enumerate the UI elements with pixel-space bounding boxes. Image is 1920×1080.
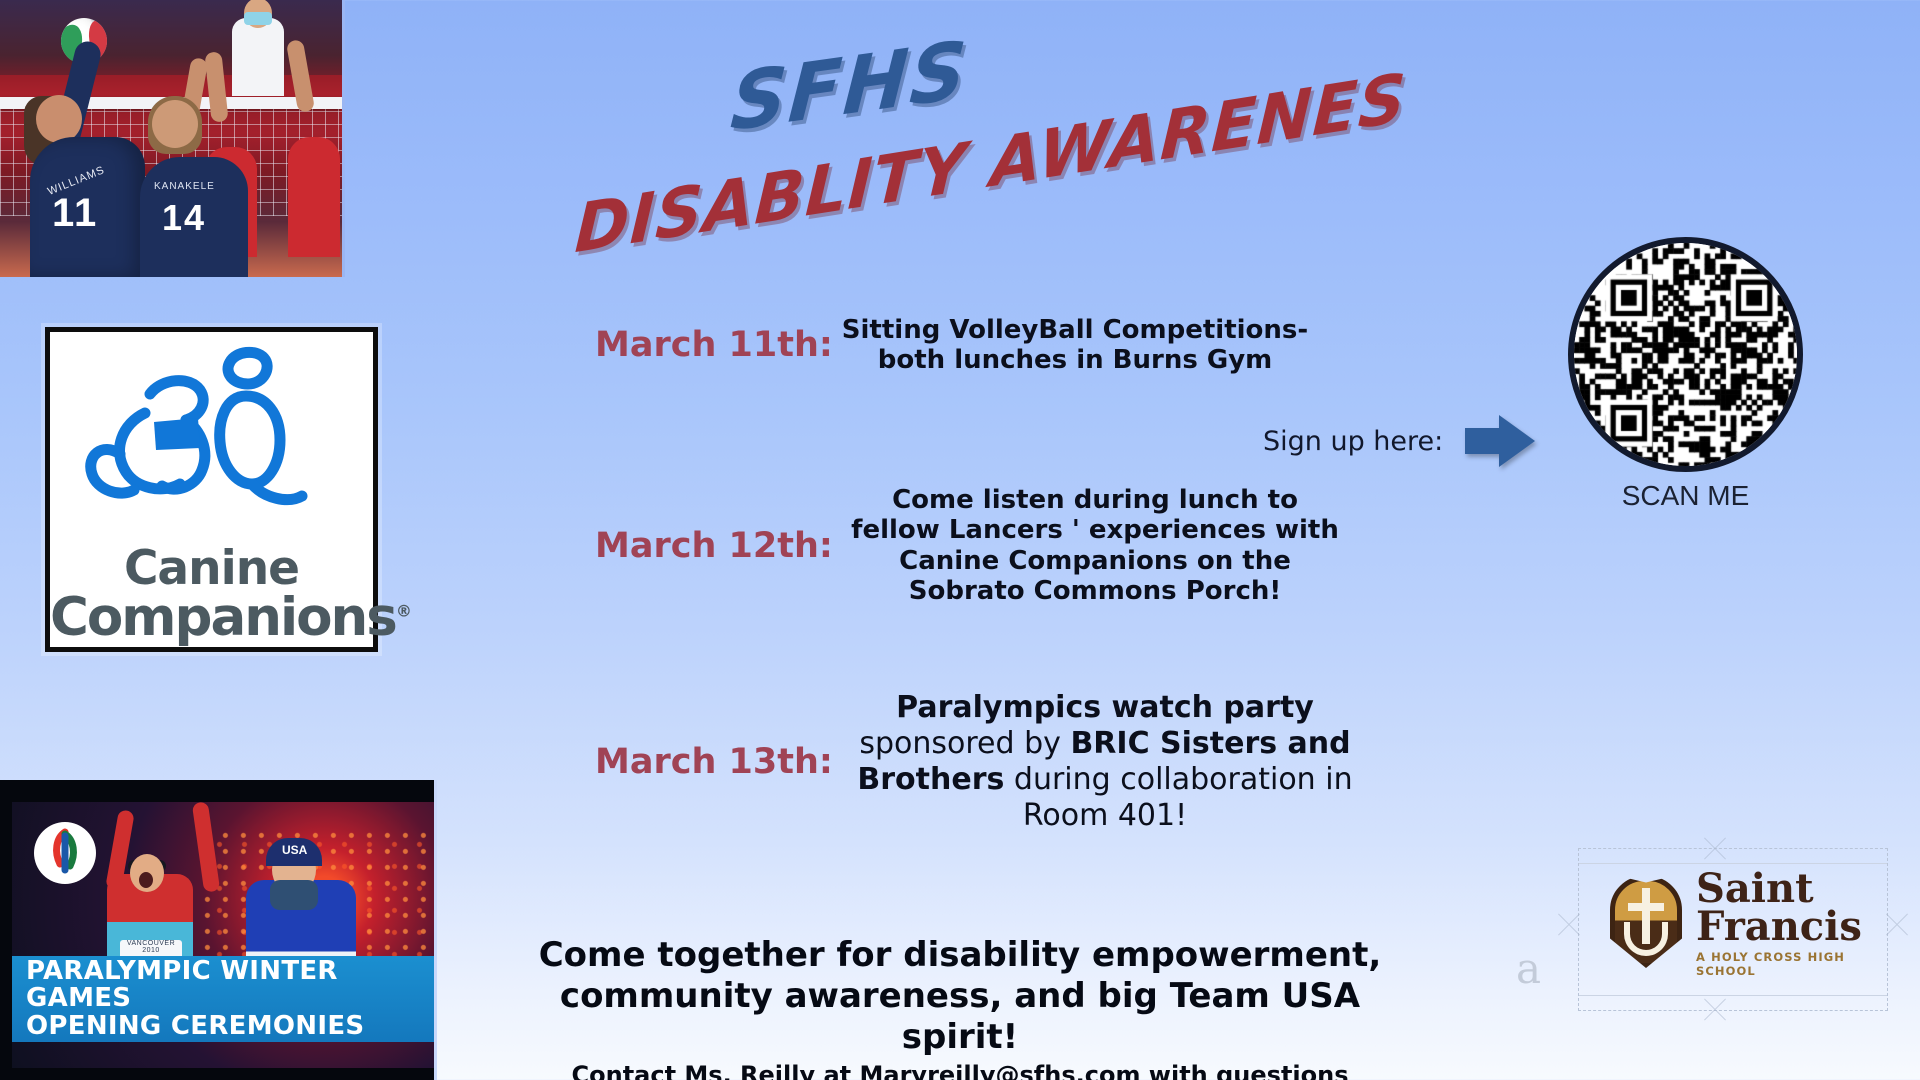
event-date-label: March 12th: [595,526,845,566]
qr-code-block[interactable]: SCAN ME [1568,237,1803,512]
usa-player-jersey: KANAKELE 14 [140,157,248,277]
event-date-label: March 11th: [595,325,835,365]
sitting-volleyball-photo: WILLIAMS 11 KANAKELE 14 [0,0,345,277]
arrow-shaft [1465,428,1503,454]
canine-companions-logo: Canine Companions® [45,327,378,652]
event-plain-2: during collaboration in Room 401! [1004,762,1352,833]
face-mask-icon [244,12,272,25]
arrow-head [1499,415,1535,467]
player-name-label: KANAKELE [154,181,215,192]
paralympic-agitos-icon [34,822,96,884]
event-row-march-11: March 11th: Sitting VolleyBall Competiti… [595,315,1315,376]
player-number-label: 14 [162,197,206,239]
poster-footer: Come together for disability empowerment… [520,935,1400,1080]
school-wordmark: Saint Francis A HOLY CROSS HIGH SCHOOL [1696,870,1878,978]
paralympic-winter-games-photo: VANCOUVER 2010 45 USA PARALYMPIC WINTER … [0,780,437,1080]
player-head [36,95,82,143]
right-arrow-icon [1465,415,1535,467]
event-description: Come listen during lunch to fellow Lance… [845,485,1345,607]
event-date-label: March 13th: [595,742,845,782]
neck-gaiter [270,880,318,910]
signup-callout: Sign up here: [1263,415,1535,467]
event-row-march-13: March 13th: Paralympics watch party spon… [595,690,1385,834]
guide-x-icon [1554,910,1584,940]
event-plain-1: sponsored by [859,726,1070,761]
event-highlight-1: Paralympics watch party [896,690,1314,725]
event-description: Sitting VolleyBall Competitions-both lun… [835,315,1315,376]
footer-line2: community awareness, and big Team USA sp… [520,976,1400,1058]
event-row-march-12: March 12th: Come listen during lunch to … [595,485,1355,607]
caption-line2: OPENING CEREMONIES [26,1013,434,1040]
opponent-player [288,137,340,257]
canine-companions-wordmark: Canine Companions® [50,546,373,643]
school-name-line2: Francis [1696,908,1878,946]
title-line-sfhs: SFHS [728,24,971,149]
canine-logo-line2: Companions® [50,592,373,643]
event-description: Paralympics watch party sponsored by BRI… [845,690,1365,834]
shield-icon [1610,876,1682,968]
guide-x-icon [1700,995,1730,1025]
guide-x-icon [1882,910,1912,940]
footer-contact: Contact Ms. Reilly at Maryreilly@sfhs.co… [520,1061,1400,1080]
saint-francis-shield-logo: a Saint Francis A HOLY CROSS HIGH SCHOOL [1588,862,1878,997]
school-tagline: A HOLY CROSS HIGH SCHOOL [1696,950,1878,978]
guide-x-icon [1700,834,1730,864]
bib-event-label: VANCOUVER 2010 [120,940,182,954]
player-number-label: 11 [52,191,98,236]
registered-mark: ® [396,601,410,620]
photo-caption: PARALYMPIC WINTER GAMES OPENING CEREMONI… [12,956,434,1042]
canine-logo-line1: Canine [50,546,373,592]
beanie-text-label: USA [282,843,307,857]
usa-beanie: USA [266,838,322,866]
title-line-awareness: DISABLITY AWARENES [573,58,1408,268]
athlete-mouth [139,872,153,888]
referee-torso [232,18,284,96]
logo-watermark-letter: a [1516,944,1541,993]
caption-line1: PARALYMPIC WINTER GAMES [26,958,434,1012]
signup-label: Sign up here: [1263,426,1443,457]
poster-title: SFHS DISABLITY AWARENES [560,20,1320,250]
cross-bar-icon [1628,903,1664,911]
usa-player-jersey: WILLIAMS 11 [30,137,145,277]
footer-line1: Come together for disability empowerment… [520,935,1400,976]
player-head [152,100,198,148]
qr-code-label: SCAN ME [1568,480,1803,512]
qr-code-icon[interactable] [1568,237,1803,472]
canine-companions-mark-icon [50,338,373,528]
